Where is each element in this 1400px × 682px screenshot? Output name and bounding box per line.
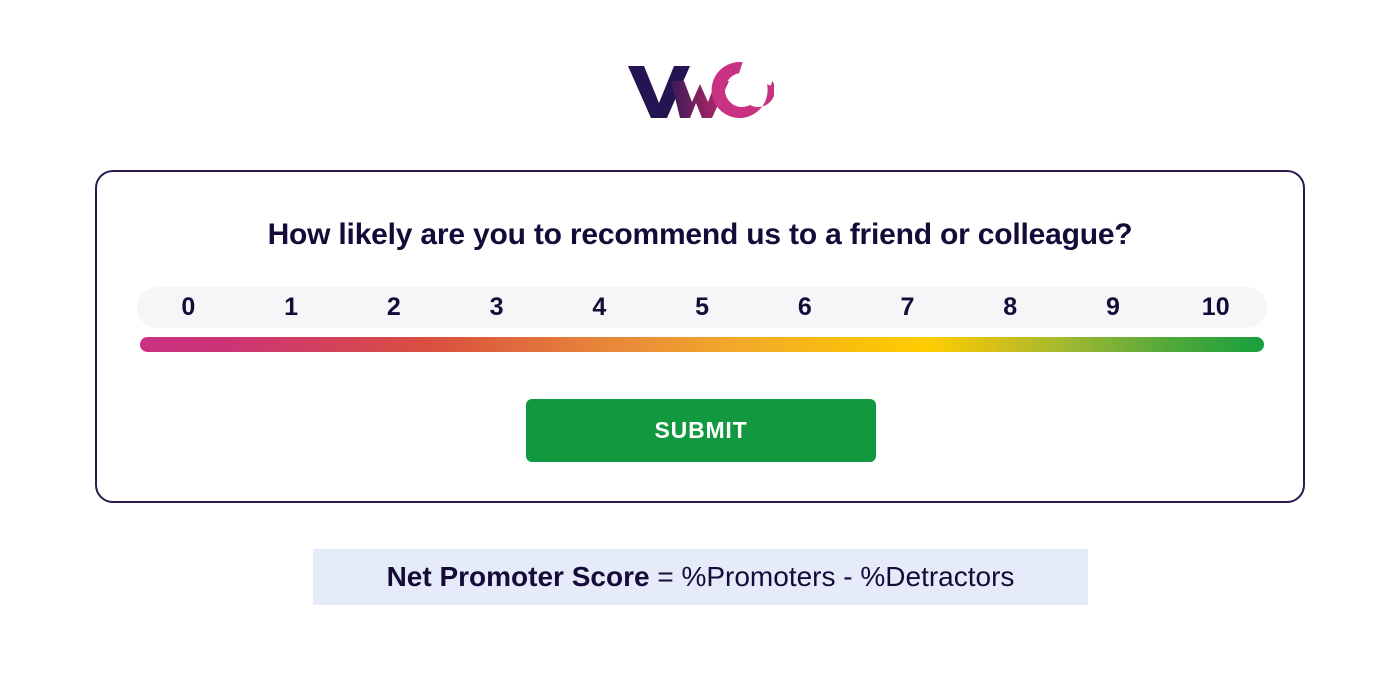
rating-option-3[interactable]: 3 — [445, 287, 548, 328]
submit-button[interactable]: SUBMIT — [526, 399, 876, 462]
rating-option-7[interactable]: 7 — [856, 287, 959, 328]
rating-option-0[interactable]: 0 — [137, 287, 240, 328]
brand-logo — [0, 58, 1400, 122]
survey-card: How likely are you to recommend us to a … — [95, 170, 1305, 503]
nps-formula: Net Promoter Score = %Promoters - %Detra… — [313, 549, 1088, 605]
rating-option-10[interactable]: 10 — [1164, 287, 1267, 328]
rating-option-2[interactable]: 2 — [342, 287, 445, 328]
rating-scale-numbers[interactable]: 0 1 2 3 4 5 6 7 8 9 10 — [137, 287, 1267, 328]
rating-gradient-bar[interactable] — [140, 337, 1264, 352]
rating-option-6[interactable]: 6 — [753, 287, 856, 328]
survey-question: How likely are you to recommend us to a … — [97, 218, 1303, 252]
rating-option-9[interactable]: 9 — [1062, 287, 1165, 328]
rating-option-8[interactable]: 8 — [959, 287, 1062, 328]
vwo-logo-icon — [626, 60, 774, 120]
rating-option-1[interactable]: 1 — [240, 287, 343, 328]
rating-option-5[interactable]: 5 — [651, 287, 754, 328]
rating-option-4[interactable]: 4 — [548, 287, 651, 328]
nps-survey-page: How likely are you to recommend us to a … — [0, 0, 1400, 682]
nps-formula-label: Net Promoter Score — [387, 561, 650, 593]
rating-scale: 0 1 2 3 4 5 6 7 8 9 10 — [137, 287, 1267, 357]
nps-formula-expression: = %Promoters - %Detractors — [650, 561, 1015, 593]
